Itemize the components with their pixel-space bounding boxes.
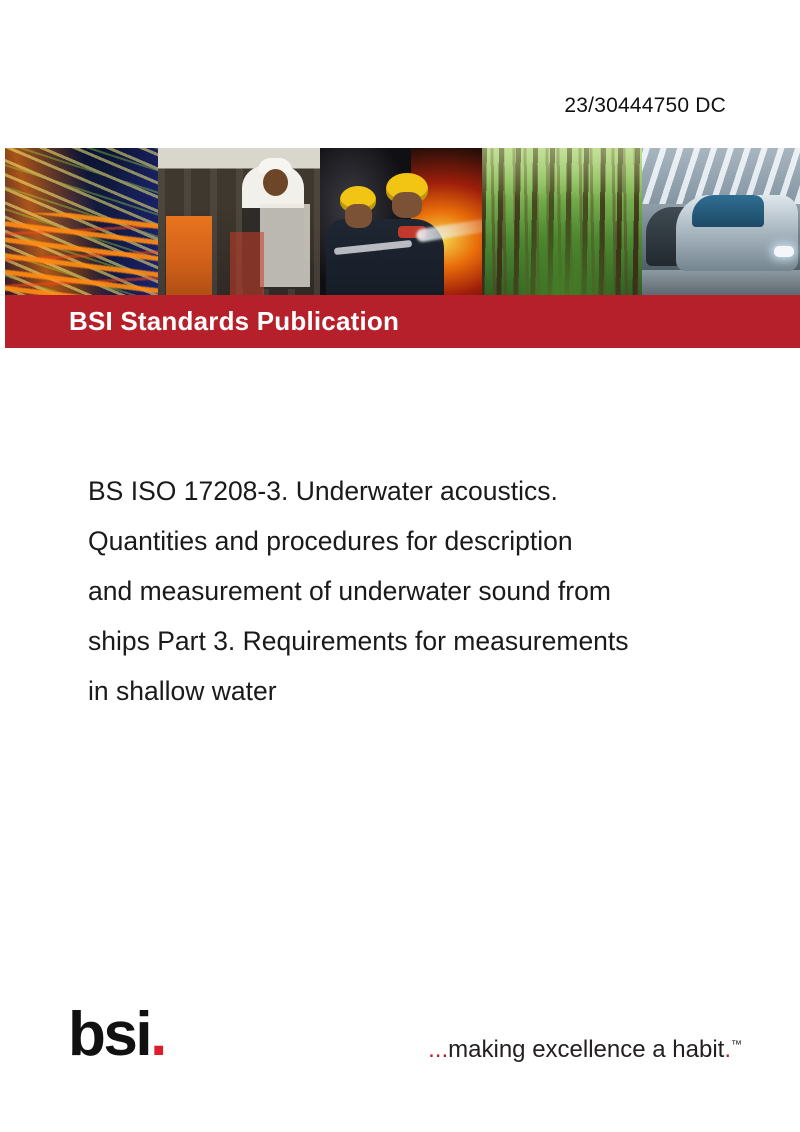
assembly-line-floor [642, 270, 800, 295]
banner-title: BSI Standards Publication [5, 306, 399, 337]
photo-panel-forest [482, 148, 642, 295]
firefighter-face-left [345, 204, 372, 228]
bsi-logo-wordmark: bsi [68, 1000, 150, 1069]
cover-photo-strip [5, 148, 800, 295]
title-line-4: ships Part 3. Requirements for measureme… [88, 616, 772, 666]
tagline-period: . [724, 1036, 731, 1063]
foreground-car-headlamp [774, 246, 794, 257]
title-line-3: and measurement of underwater sound from [88, 566, 772, 616]
bsi-tagline: ...making excellence a habit.™ [428, 1036, 742, 1064]
firefighter-face-right [392, 192, 422, 218]
foreground-car-windscreen [692, 195, 764, 227]
tagline-ellipsis: ... [428, 1036, 448, 1063]
standards-publication-banner: BSI Standards Publication [5, 295, 800, 348]
tagline-text: making excellence a habit [448, 1036, 724, 1063]
document-number: 23/30444750 DC [564, 94, 726, 118]
standard-title: BS ISO 17208-3. Underwater acoustics. Qu… [88, 466, 772, 716]
title-line-2: Quantities and procedures for descriptio… [88, 516, 772, 566]
photo-panel-warehouse [158, 148, 320, 295]
photo-panel-firefighters [320, 148, 482, 295]
trademark-icon: ™ [731, 1039, 742, 1051]
bsi-logo: bsi. [68, 1004, 165, 1066]
photo-panel-car-plant [642, 148, 800, 295]
warehouse-worker-head [263, 169, 288, 196]
title-line-1: BS ISO 17208-3. Underwater acoustics. [88, 466, 772, 516]
photo-panel-light-trails [5, 148, 158, 295]
bsi-logo-dot: . [150, 1000, 165, 1069]
title-line-5: in shallow water [88, 666, 772, 716]
